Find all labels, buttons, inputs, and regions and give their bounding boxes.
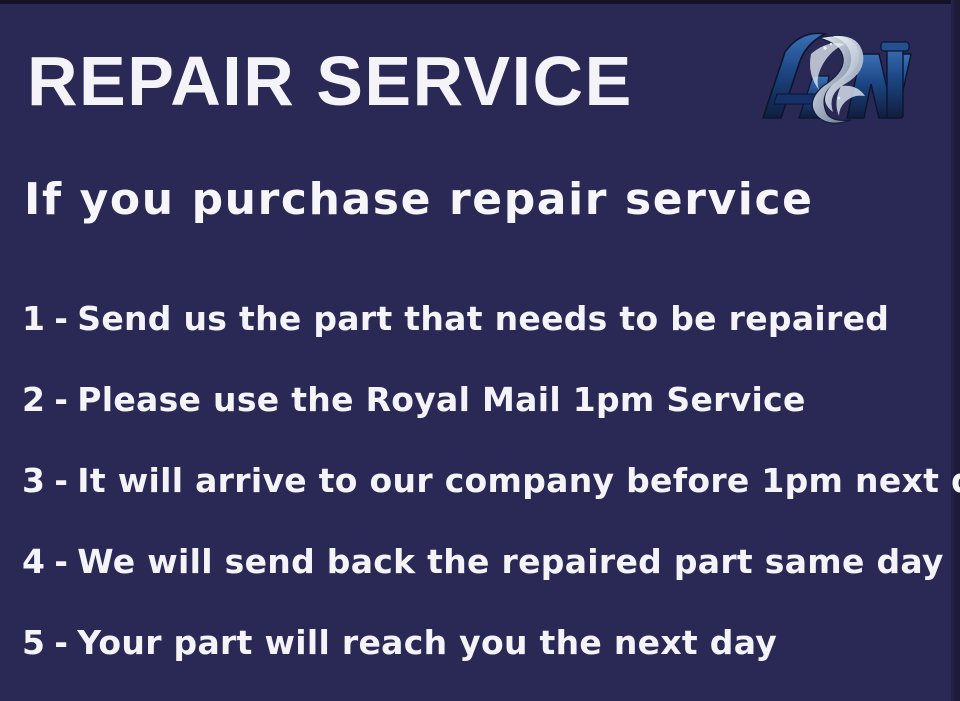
step-number: 1 [22, 299, 45, 338]
step-separator: - [45, 542, 77, 581]
step-text: It will arrive to our company before 1pm… [77, 461, 960, 500]
step-separator: - [45, 380, 77, 419]
step-text: Please use the Royal Mail 1pm Service [77, 380, 805, 419]
repair-service-card: REPAIR SERVICE [0, 0, 960, 701]
step-separator: - [45, 623, 77, 662]
step-separator: - [45, 299, 77, 338]
list-item: 4 - We will send back the repaired part … [22, 521, 942, 602]
page-title: REPAIR SERVICE [27, 44, 633, 118]
step-text: We will send back the repaired part same… [77, 542, 943, 581]
step-number: 3 [22, 461, 45, 500]
top-edge-strip [0, 0, 960, 4]
page-subtitle: If you purchase repair service [24, 170, 814, 230]
steps-list: 1 - Send us the part that needs to be re… [22, 278, 942, 683]
right-edge-strip [954, 0, 960, 701]
list-item: 1 - Send us the part that needs to be re… [22, 278, 942, 359]
list-item: 5 - Your part will reach you the next da… [22, 602, 942, 683]
asn-logo [755, 24, 925, 124]
step-text: Send us the part that needs to be repair… [77, 299, 889, 338]
step-separator: - [45, 461, 77, 500]
step-number: 4 [22, 542, 45, 581]
step-number: 2 [22, 380, 45, 419]
step-number: 5 [22, 623, 45, 662]
step-text: Your part will reach you the next day [77, 623, 777, 662]
list-item: 3 - It will arrive to our company before… [22, 440, 942, 521]
list-item: 2 - Please use the Royal Mail 1pm Servic… [22, 359, 942, 440]
